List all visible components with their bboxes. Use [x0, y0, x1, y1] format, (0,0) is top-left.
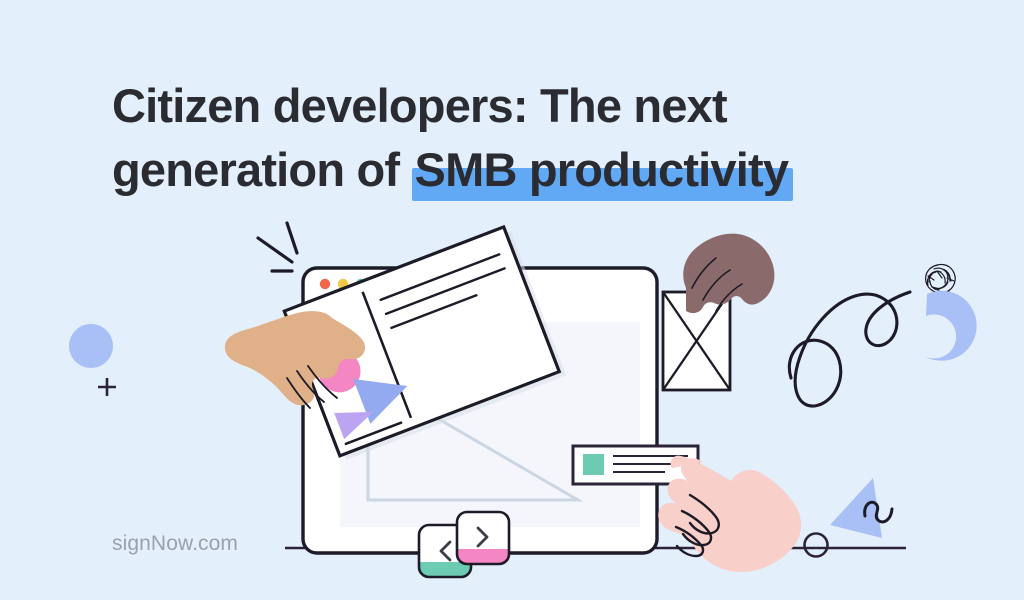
squiggle-loop-decoration [789, 292, 910, 406]
spark-lines-decoration [258, 223, 297, 271]
plus-decoration [98, 378, 116, 396]
page-title-line-1: Citizen developers: The next [112, 74, 902, 138]
blue-circle-decoration [69, 324, 113, 368]
circle-outline-decoration [805, 534, 828, 557]
traffic-light-red[interactable] [320, 279, 330, 289]
pager-next-face [457, 512, 509, 549]
blue-triangle-decoration [830, 478, 882, 538]
scribble-ball-decoration [926, 264, 956, 294]
pager-next-button[interactable] [457, 512, 509, 564]
poster-canvas: Citizen developers: The next generation … [0, 0, 1024, 600]
list-item-thumbnail [583, 454, 604, 475]
brown-hand [683, 234, 774, 313]
page-title-line-2-prefix: generation of [112, 143, 412, 196]
brand-wordmark: signNow.com [112, 532, 238, 556]
blue-crescent-decoration [924, 291, 977, 361]
page-title-line-2: generation of SMB productivity [112, 138, 902, 202]
page-title: Citizen developers: The next generation … [112, 74, 902, 202]
page-title-highlight: SMB productivity [412, 138, 792, 202]
